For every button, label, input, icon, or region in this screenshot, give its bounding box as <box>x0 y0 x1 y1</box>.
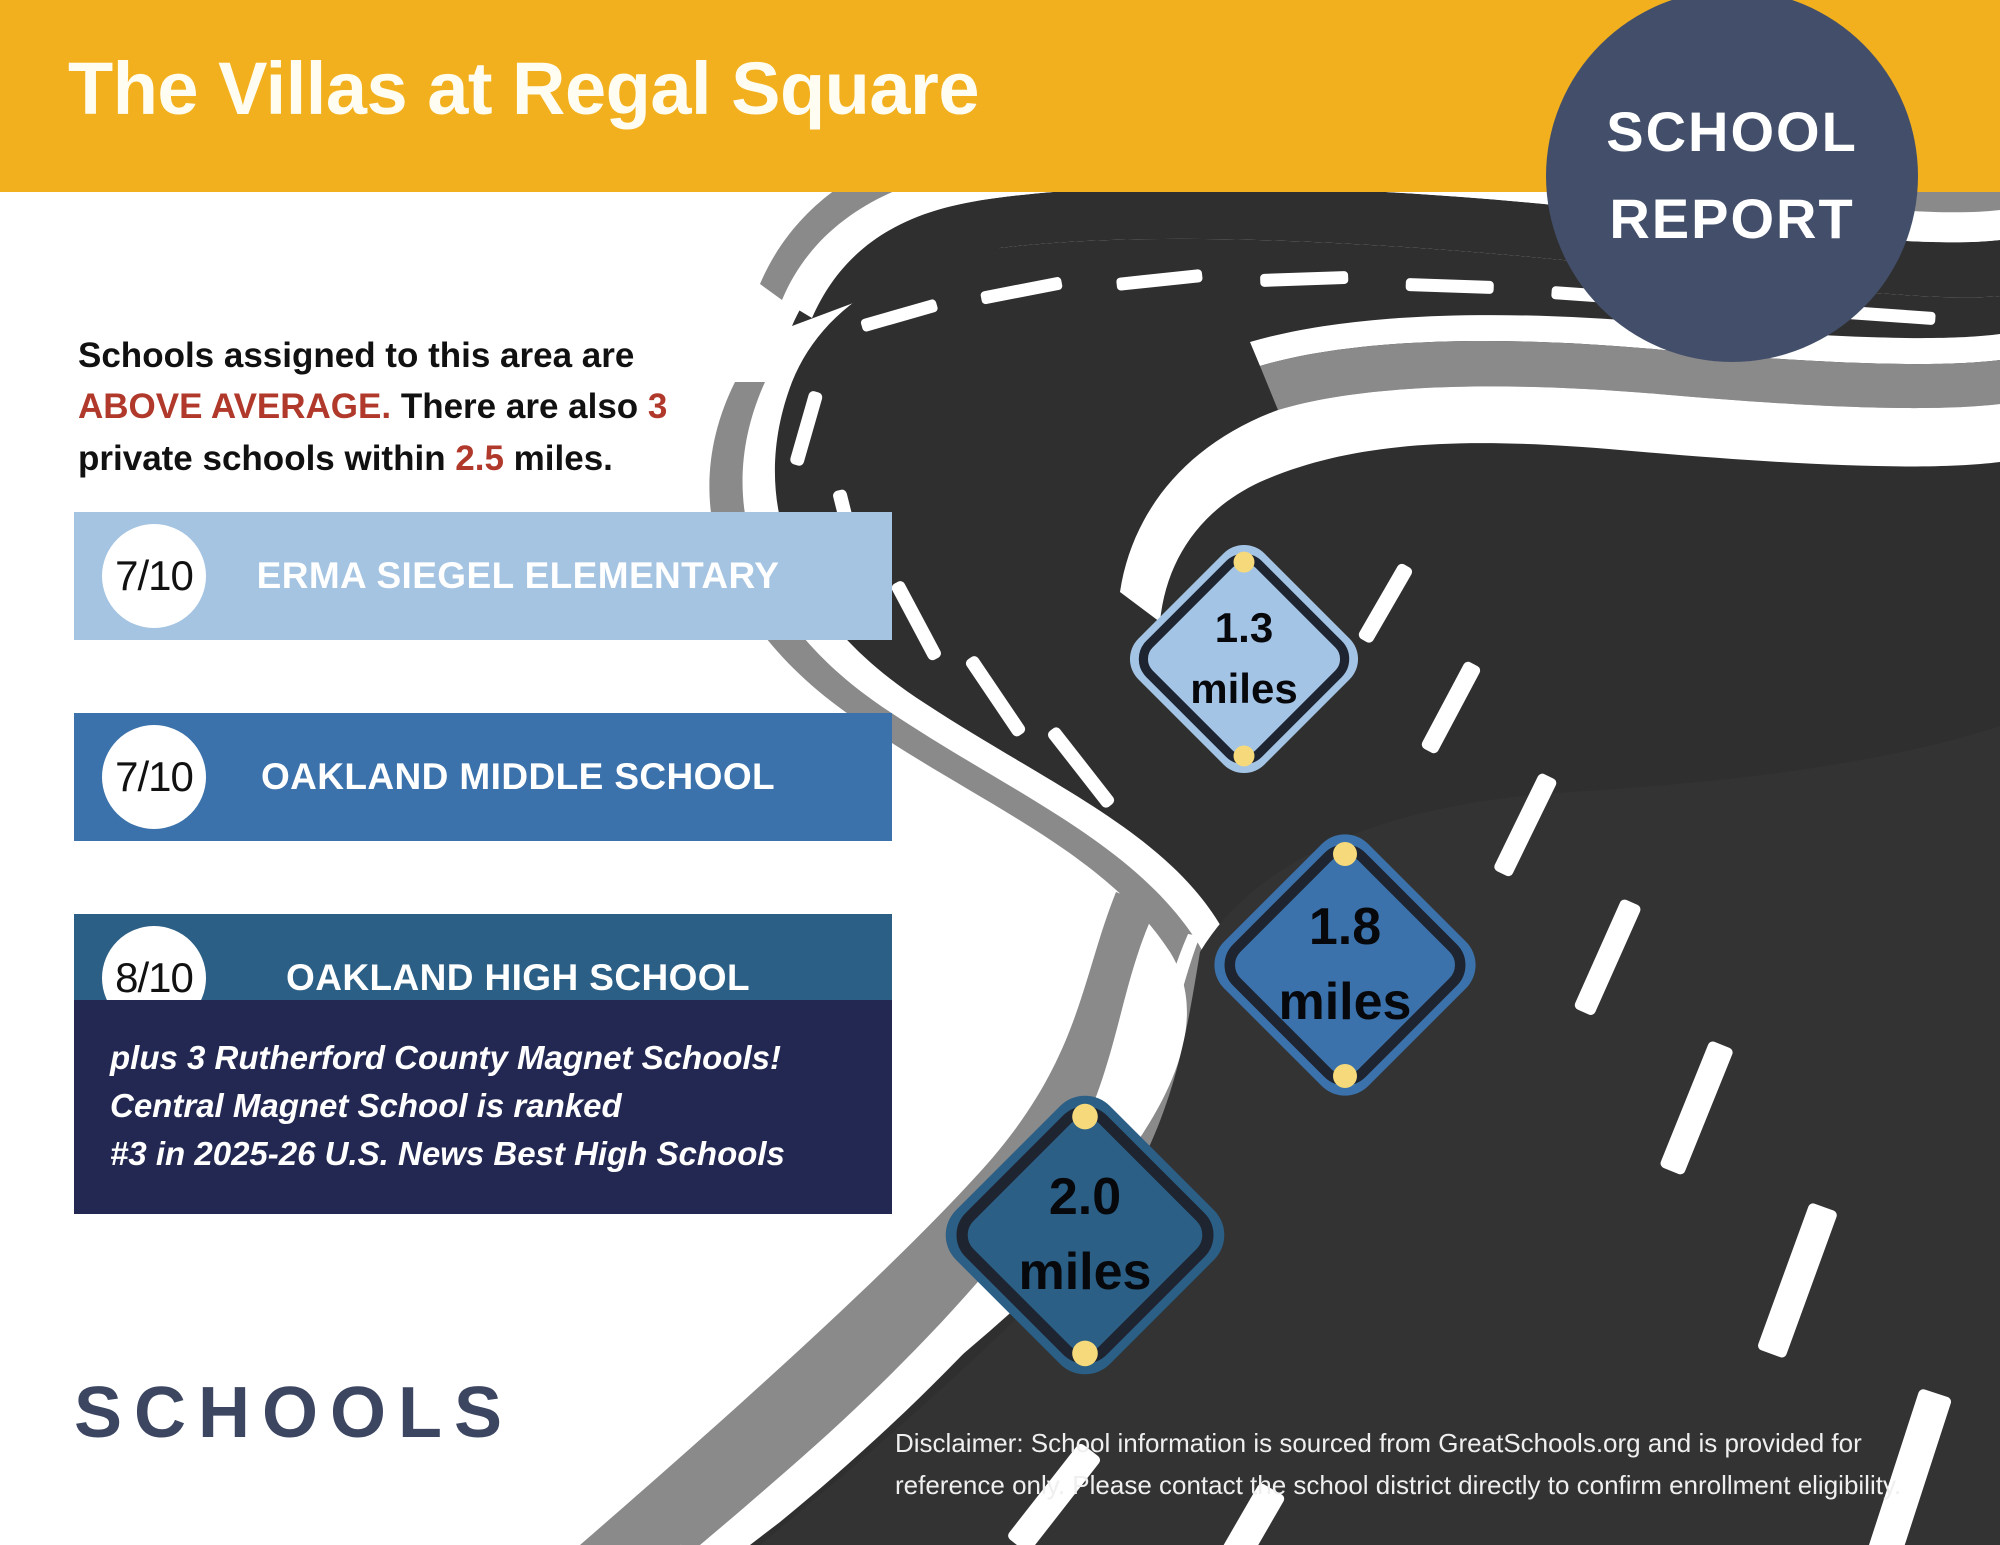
intro-part-3: private schools within <box>78 439 455 478</box>
magnet-schools-callout: plus 3 Rutherford County Magnet Schools!… <box>74 1000 892 1214</box>
school-row-elementary[interactable]: 7/10 ERMA SIEGEL ELEMENTARY <box>74 512 892 640</box>
school-report-infographic: The Villas at Regal Square SCHOOL REPORT… <box>0 0 2000 1545</box>
intro-part-2: There are also <box>391 387 648 426</box>
magnet-line-3: #3 in 2025-26 U.S. News Best High School… <box>110 1130 856 1178</box>
school-report-badge: SCHOOL REPORT <box>1546 0 1918 362</box>
intro-emphasis-count: 3 <box>648 387 667 426</box>
badge-line-report: REPORT <box>1609 176 1854 263</box>
intro-part-1: Schools assigned to this area are <box>78 336 634 375</box>
page-title: The Villas at Regal Square <box>68 52 979 126</box>
distance-sign-2: 1.8 miles <box>1195 815 1495 1115</box>
disclaimer-text: Disclaimer: School information is source… <box>895 1422 1985 1506</box>
intro-paragraph: Schools assigned to this area are ABOVE … <box>78 330 718 484</box>
intro-emphasis-above-average: ABOVE AVERAGE. <box>78 387 391 426</box>
distance-sign-3: 2.0 miles <box>925 1075 1245 1395</box>
school-score-badge: 7/10 <box>102 725 206 829</box>
disclaimer-line-2: reference only. Please contact the schoo… <box>895 1464 1985 1506</box>
distance-sign-1: 1.3 miles <box>1113 528 1375 790</box>
school-row-middle[interactable]: 7/10 OAKLAND MIDDLE SCHOOL <box>74 713 892 841</box>
magnet-line-1: plus 3 Rutherford County Magnet Schools! <box>110 1034 856 1082</box>
intro-emphasis-radius: 2.5 <box>455 439 504 478</box>
badge-line-school: SCHOOL <box>1606 89 1858 176</box>
intro-part-4: miles. <box>504 439 613 478</box>
section-label-schools: SCHOOLS <box>74 1372 514 1454</box>
magnet-line-2: Central Magnet School is ranked <box>110 1082 856 1130</box>
school-score-badge: 7/10 <box>102 524 206 628</box>
disclaimer-line-1: Disclaimer: School information is source… <box>895 1422 1985 1464</box>
